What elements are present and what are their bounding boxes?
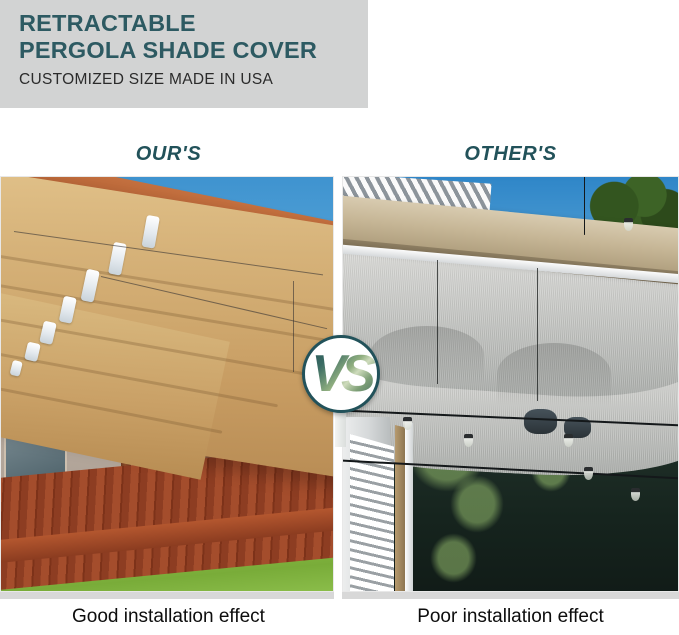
wood-post <box>395 425 405 591</box>
scene-good-installation <box>1 177 333 591</box>
photo-panel-good <box>0 176 334 592</box>
foliage-highlight <box>430 533 477 583</box>
vs-badge-label: VS <box>305 338 377 410</box>
mesh-sag <box>497 343 611 405</box>
tie-wire <box>437 260 438 384</box>
tie-wire <box>537 268 538 400</box>
column-label-others: OTHER'S <box>342 143 679 166</box>
header-band: RETRACTABLE PERGOLA SHADE COVER CUSTOMIZ… <box>0 0 368 108</box>
mesh-gap <box>524 409 558 434</box>
louvered-shutter <box>350 434 394 591</box>
string-light-bulb <box>631 488 640 501</box>
vs-badge: VS <box>302 335 380 413</box>
column-label-ours: OUR'S <box>0 143 337 166</box>
string-light-bulb <box>564 434 573 447</box>
footer-divider <box>0 592 679 599</box>
header-subtitle: CUSTOMIZED SIZE MADE IN USA <box>19 71 273 89</box>
support-wire <box>293 281 294 372</box>
string-light-bulb <box>584 467 593 480</box>
mesh-sag <box>370 326 484 384</box>
caption-poor: Poor installation effect <box>342 606 679 628</box>
foliage-highlight <box>450 475 504 533</box>
product-comparison-infographic: RETRACTABLE PERGOLA SHADE COVER CUSTOMIZ… <box>0 0 679 635</box>
header-title-line-1: RETRACTABLE <box>19 12 196 36</box>
string-light-bulb <box>464 434 473 447</box>
footer-gap <box>334 592 342 599</box>
scene-poor-installation <box>343 177 678 591</box>
caption-good: Good installation effect <box>0 606 337 628</box>
photo-panel-poor <box>342 176 679 592</box>
white-post <box>405 421 413 591</box>
header-title-line-2: PERGOLA SHADE COVER <box>19 39 317 63</box>
